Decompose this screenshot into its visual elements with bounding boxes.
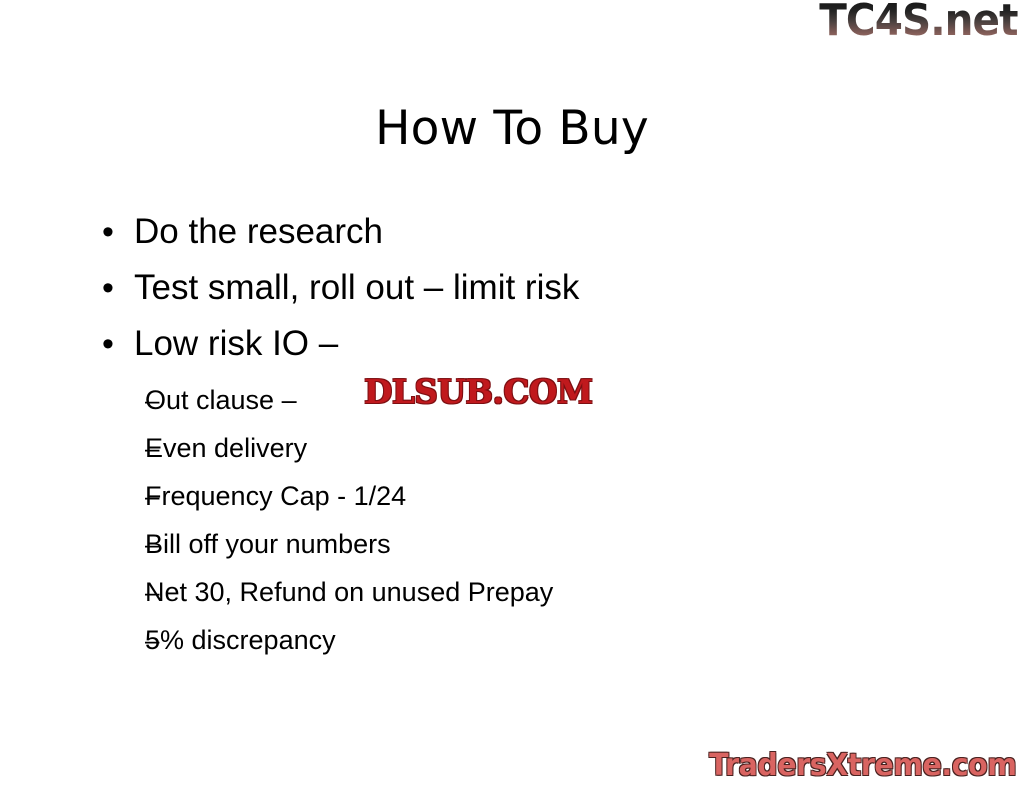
list-item-label: Test small, roll out – limit risk — [134, 264, 579, 312]
list-item-label: Low risk IO – — [134, 320, 338, 368]
sub-list-item-label: Bill off your numbers — [145, 520, 391, 568]
list-item-label: Do the research — [134, 208, 383, 256]
tradersxtreme-watermark: TradersXtreme.com — [709, 749, 1016, 783]
bullet-dot-icon: • — [96, 208, 134, 256]
bullet-dash-icon: – — [96, 568, 145, 616]
list-item: • Do the research — [96, 208, 936, 256]
sub-list-item-label: Out clause – — [145, 376, 297, 424]
sub-list-item: – 5% discrepancy — [96, 616, 936, 664]
list-item: • Test small, roll out – limit risk — [96, 264, 936, 312]
sub-list-item-label: Even delivery — [145, 424, 307, 472]
bullet-dash-icon: – — [96, 520, 145, 568]
sub-list-item: – Bill off your numbers — [96, 520, 936, 568]
sub-list-item: – Net 30, Refund on unused Prepay — [96, 568, 936, 616]
sub-list-item: – Frequency Cap - 1/24 — [96, 472, 936, 520]
bullet-dot-icon: • — [96, 320, 134, 368]
sub-list-item: – Even delivery — [96, 424, 936, 472]
page-title: How To Buy — [0, 101, 1024, 156]
list-item: • Low risk IO – — [96, 320, 936, 368]
sub-list-item-label: 5% discrepancy — [145, 616, 336, 664]
sub-list-item-label: Frequency Cap - 1/24 — [145, 472, 406, 520]
bullet-dash-icon: – — [96, 472, 145, 520]
bullet-list: • Do the research • Test small, roll out… — [96, 208, 936, 664]
tc4s-logo: TC4S.net — [820, 0, 1018, 44]
bullet-dot-icon: • — [96, 264, 134, 312]
bullet-dash-icon: – — [96, 376, 145, 424]
sub-bullet-list: – Out clause – – Even delivery – Frequen… — [96, 376, 936, 664]
bullet-dash-icon: – — [96, 424, 145, 472]
dlsub-watermark: DLSUB.COM — [364, 373, 593, 411]
bullet-dash-icon: – — [96, 616, 145, 664]
sub-list-item-label: Net 30, Refund on unused Prepay — [145, 568, 553, 616]
slide-canvas: TC4S.net How To Buy • Do the research • … — [0, 0, 1024, 791]
